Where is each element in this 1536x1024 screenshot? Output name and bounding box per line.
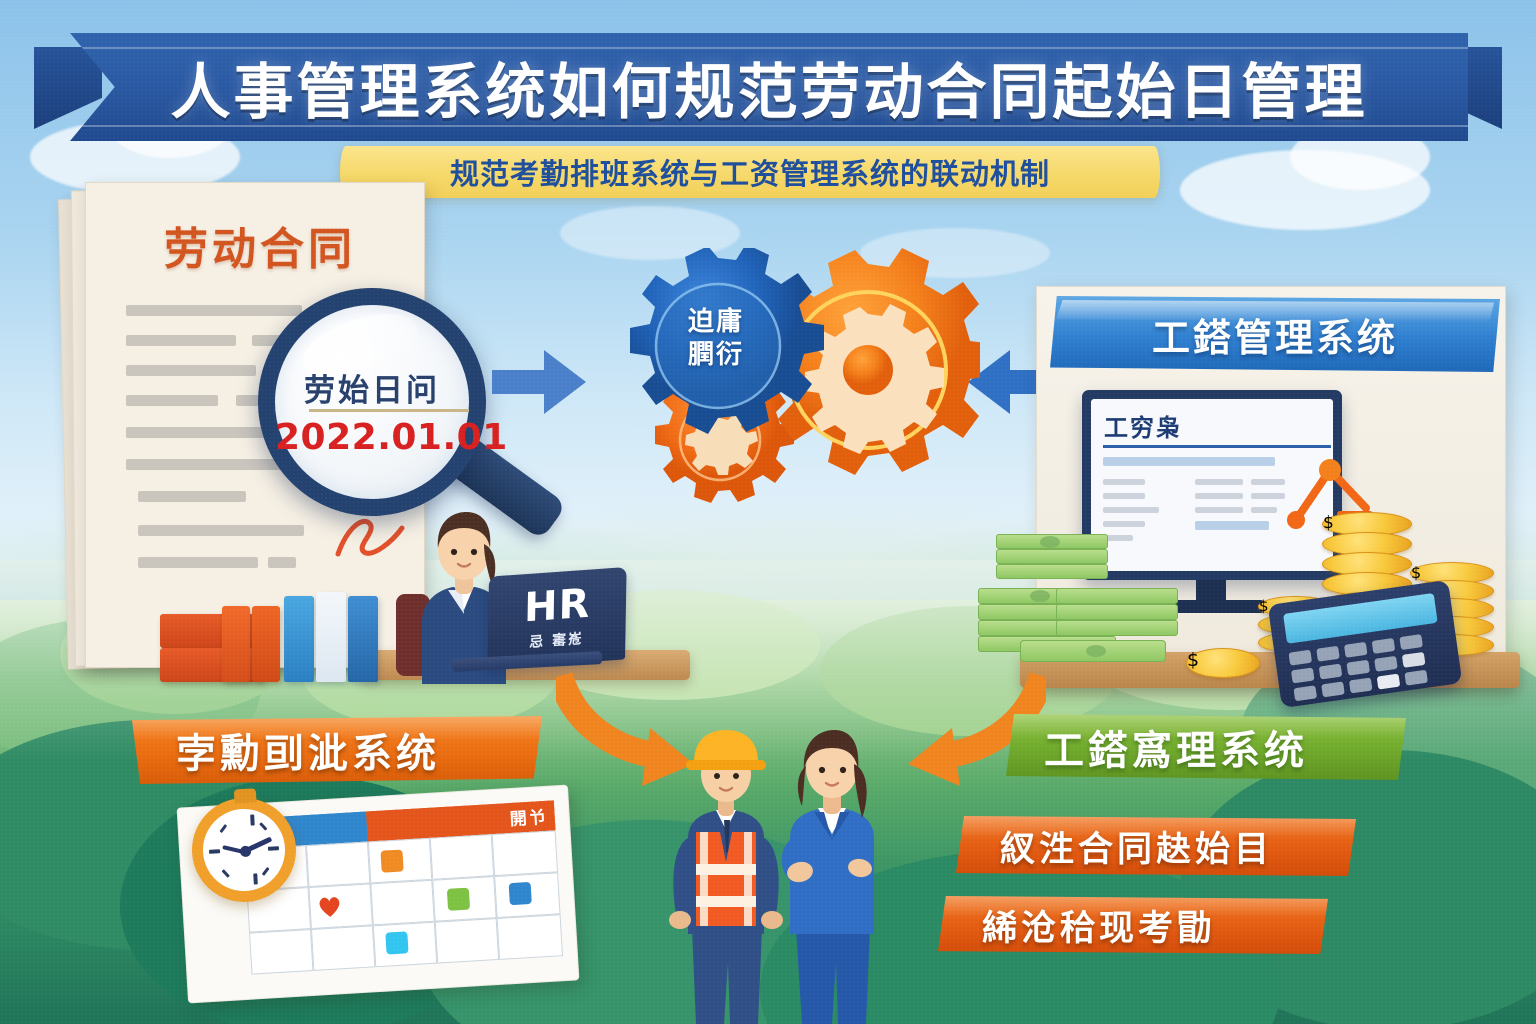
integration-gears: 迫庸 膶衍: [590, 248, 980, 538]
calendar-cell: [249, 929, 313, 975]
gear-label-line1: 迫庸: [646, 306, 786, 339]
calendar-mark-orange: [380, 849, 403, 872]
folder-white: [316, 592, 346, 682]
arrow-right-blue-icon: [492, 344, 588, 420]
payroll-screen-title: 工穷枭: [1104, 408, 1182, 443]
gear-center-label: 迫庸 膶衍: [646, 306, 786, 371]
banknote-stack: [1056, 620, 1178, 636]
calendar-mark-green: [447, 888, 470, 911]
banner-accurate-pay: 絺沧秴现考勖: [938, 896, 1328, 954]
monitor-neck: [1196, 580, 1226, 602]
banner-payroll-system: 工鎝寪理系统: [1006, 714, 1406, 780]
calendar-mark-blue: [509, 882, 532, 905]
magnifier-lens: 劳始日问 2022.01.01: [258, 288, 486, 516]
banknote-seal: [1030, 590, 1050, 602]
banknote-stack: [1056, 604, 1178, 620]
banner-attendance-system: 孛勳刯泚系统: [132, 716, 542, 784]
calendar-header-cell: [304, 812, 368, 846]
gear-label-line2: 膶衍: [646, 339, 786, 372]
calendar-mark-heart-icon: [317, 895, 342, 922]
screen-divider: [1103, 445, 1331, 448]
banner-accurate-pay-label: 絺沧秴现考勖: [982, 900, 1216, 951]
infographic-canvas: 人事管理系统如何规范劳动合同起始日管理 规范考勤排班系统与工资管理系统的联动机制…: [0, 0, 1536, 1024]
calendar-cell: [306, 842, 370, 888]
magnifier-icon: 劳始日问 2022.01.01: [258, 288, 486, 516]
calendar-header-label: 開兯: [509, 803, 548, 830]
coin-dollar-symbol: $: [1323, 513, 1411, 533]
page-subtitle: 规范考勤排班系统与工资管理系统的联动机制: [340, 146, 1160, 198]
banner-payroll-label: 工鎝寪理系统: [1044, 718, 1308, 776]
banner-attendance-label: 孛勳刯泚系统: [176, 721, 440, 779]
banner-unify-start-date: 紁泩合同赽始目: [956, 816, 1356, 876]
office-employee-figure: [766, 722, 898, 1024]
laptop-sub-label: 忌 寚峞: [529, 628, 584, 652]
calendar-cell: [492, 830, 558, 876]
banknote-seal: [1086, 645, 1106, 657]
calendar-cell: [497, 914, 563, 960]
page-title: 人事管理系统如何规范劳动合同起始日管理: [70, 33, 1468, 141]
calendar-cell: [370, 880, 434, 926]
banknote-stack: [1056, 588, 1178, 604]
coin-dollar-symbol: $: [1187, 649, 1259, 671]
coin-single: $: [1186, 648, 1260, 678]
banknote-stack: [996, 549, 1108, 564]
start-date-label: 劳始日问: [275, 365, 469, 410]
calendar-cell: [430, 834, 494, 880]
start-date-value: 2022.01.01: [275, 417, 469, 458]
banknote-stack: [996, 564, 1108, 579]
folder-blue: [348, 596, 378, 682]
binder-orange-upright: [252, 606, 280, 682]
calendar-cell: [311, 925, 375, 971]
banknote-seal: [1040, 536, 1060, 548]
folder-blue: [284, 596, 314, 682]
calendar-mark-cyan: [385, 931, 408, 954]
binder-orange-upright: [222, 606, 250, 682]
payroll-panel-title: 工鎝管理系统: [1050, 296, 1500, 372]
calendar-cell: [435, 918, 499, 964]
contract-title: 劳动合同: [164, 213, 356, 277]
magnifier-divider: [309, 409, 469, 412]
clock-crown: [234, 788, 257, 803]
laptop-brand-label: HR: [524, 584, 591, 629]
banner-unify-label: 紁泩合同赽始目: [1000, 821, 1273, 872]
